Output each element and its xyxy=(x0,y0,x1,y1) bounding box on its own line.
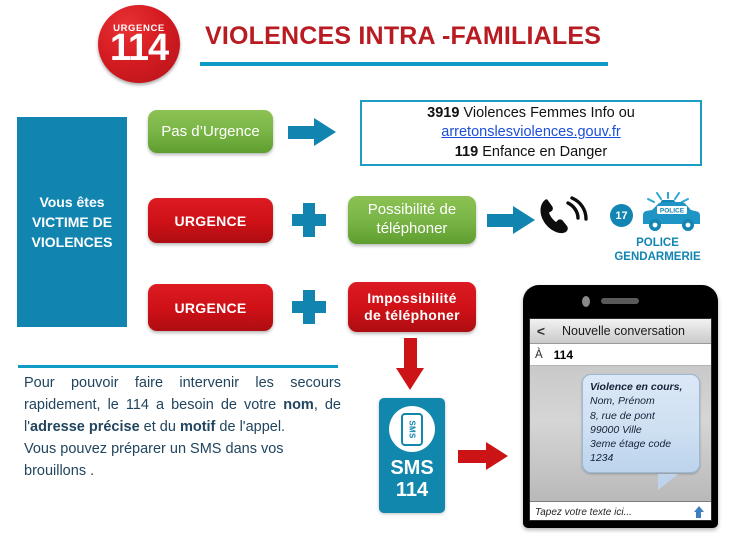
pill-pas-urgence[interactable]: Pas d’Urgence xyxy=(148,110,273,153)
police-car-label: POLICE xyxy=(660,208,685,215)
sms-message-bubble: Violence en cours, Nom, Prénom 8, rue de… xyxy=(582,374,700,473)
police-label-line-1: POLICE xyxy=(605,236,710,250)
victim-line-2: VICTIME DE xyxy=(32,212,113,232)
sms-screen-title: Nouvelle conversation xyxy=(552,324,711,338)
plus-icon-1 xyxy=(292,203,326,237)
badge-17: 17 xyxy=(610,204,633,227)
arrow-right-icon-teal-1 xyxy=(288,118,336,146)
phone-mockup: < Nouvelle conversation À 114 Violence e… xyxy=(523,285,718,528)
sms-conversation-body: Violence en cours, Nom, Prénom 8, rue de… xyxy=(530,366,711,501)
message-line-3: 8, rue de pont xyxy=(590,409,693,423)
message-line-4: 99000 Ville xyxy=(590,423,693,437)
pill-urgence-1[interactable]: URGENCE xyxy=(148,198,273,243)
police-gendarmerie-label: POLICE GENDARMERIE xyxy=(605,236,710,265)
info-text-3919: Violences Femmes Info ou xyxy=(463,105,634,121)
info-line-1: 3919 Violences Femmes Info ou xyxy=(427,104,635,124)
info-line-2: arretonslesviolences.gouv.fr xyxy=(441,123,620,143)
logo-number-114: 114 xyxy=(110,31,168,66)
victim-line-3: VIOLENCES xyxy=(32,232,113,252)
sms-114-badge: SMS SMS 114 xyxy=(379,398,445,513)
sms-circle-icon: SMS xyxy=(389,406,435,452)
para-bold-adresse: adresse précise xyxy=(30,419,140,435)
info-website-link[interactable]: arretonslesviolences.gouv.fr xyxy=(441,124,620,140)
phone-camera-icon xyxy=(582,296,590,307)
victim-panel: Vous êtes VICTIME DE VIOLENCES xyxy=(17,117,127,327)
sms-badge-label-1: SMS xyxy=(390,457,433,479)
ringing-phone-icon xyxy=(535,194,595,240)
para-bold-motif: motif xyxy=(180,419,215,435)
victim-line-1: Vous êtes xyxy=(32,192,113,212)
urgence-114-logo: URGENCE 114 xyxy=(98,5,180,83)
message-line-1: Violence en cours, xyxy=(590,380,693,394)
paragraph-top-rule xyxy=(18,365,338,368)
info-line-3: 119 Enfance en Danger xyxy=(455,143,607,163)
sms-text-input[interactable]: Tapez votre texte ici... xyxy=(535,507,692,518)
arrow-right-icon-red xyxy=(458,442,510,470)
pill-urgence-2[interactable]: URGENCE xyxy=(148,284,273,331)
info-number-119: 119 xyxy=(455,144,478,160)
pill-impossibilite-telephoner[interactable]: Impossibilité de téléphoner xyxy=(348,282,476,332)
page-title: VIOLENCES INTRA -FAMILIALES xyxy=(205,22,601,51)
police-car-icon: POLICE xyxy=(635,192,707,234)
send-up-arrow-icon[interactable] xyxy=(692,506,706,520)
police-label-line-2: GENDARMERIE xyxy=(605,250,710,264)
possibilite-line-1: Possibilité de xyxy=(368,201,456,220)
info-number-3919: 3919 xyxy=(427,105,459,121)
sms-phone-glyph-icon: SMS xyxy=(401,413,423,446)
info-text-119: Enfance en Danger xyxy=(482,144,607,160)
message-line-6: 1234 xyxy=(590,451,693,465)
para-seg-3: et du xyxy=(140,419,180,435)
paragraph-block-2: Vous pouvez préparer un SMS dans vos bro… xyxy=(24,438,341,482)
sms-badge-label-2: 114 xyxy=(396,479,428,501)
sms-recipient-row[interactable]: À 114 xyxy=(530,344,711,366)
para-seg-4: de l'appel. xyxy=(215,419,285,435)
message-line-2: Nom, Prénom xyxy=(590,394,693,408)
instruction-paragraph: Pour pouvoir faire intervenir les secour… xyxy=(24,372,341,482)
message-line-5: 3eme étage code xyxy=(590,437,693,451)
sms-to-label: À xyxy=(535,349,543,361)
title-underline-rule xyxy=(200,62,608,66)
phone-speaker-grille xyxy=(601,298,639,304)
back-chevron-icon[interactable]: < xyxy=(530,323,552,339)
impossibilite-line-2: de téléphoner xyxy=(364,307,460,325)
arrow-down-icon-red xyxy=(396,338,424,390)
sms-to-value: 114 xyxy=(554,348,573,362)
sms-title-bar: < Nouvelle conversation xyxy=(530,319,711,344)
infographic-canvas: URGENCE 114 VIOLENCES INTRA -FAMILIALES … xyxy=(0,0,729,547)
police-gendarmerie-block: 17 POLICE POLICE GENDARMERIE xyxy=(535,192,710,272)
para-bold-nom: nom xyxy=(283,397,314,413)
plus-icon-2 xyxy=(292,290,326,324)
sms-glyph-text: SMS xyxy=(408,420,417,438)
sms-input-bar[interactable]: Tapez votre texte ici... xyxy=(530,501,711,521)
phone-screen: < Nouvelle conversation À 114 Violence e… xyxy=(529,318,712,521)
impossibilite-line-1: Impossibilité xyxy=(364,290,460,308)
sms-bubble-tail xyxy=(658,474,678,490)
info-box-numbers: 3919 Violences Femmes Info ou arretonsle… xyxy=(360,100,702,166)
paragraph-block-1: Pour pouvoir faire intervenir les secour… xyxy=(24,372,341,438)
pill-possibilite-telephoner[interactable]: Possibilité de téléphoner xyxy=(348,196,476,244)
arrow-right-icon-teal-2 xyxy=(487,206,535,234)
possibilite-line-2: téléphoner xyxy=(368,220,456,239)
